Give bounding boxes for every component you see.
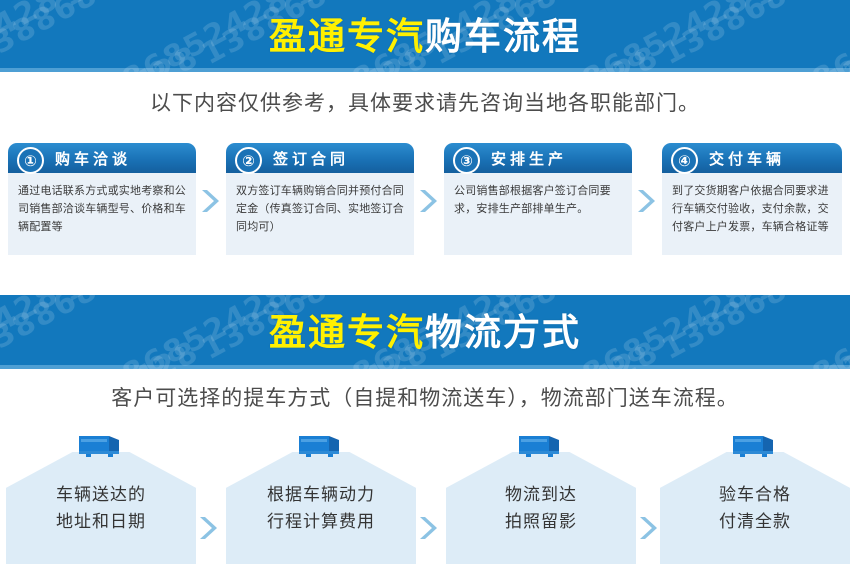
logistics-subtitle: 客户可选择的提车方式（自提和物流送车），物流部门送车流程。 — [0, 382, 850, 412]
banner-heading-logistics: 物流方式 — [425, 312, 581, 353]
logistics-card-1-line1: 车辆送达的 — [6, 482, 196, 509]
step-card-1[interactable]: ① 购车洽谈 通过电话联系方式或实地考察和公司销售部洽谈车辆型号、价格和车辆配置… — [8, 143, 196, 255]
step-card-3-number: ③ — [453, 147, 480, 174]
logistics-cards-row: 车辆送达的 地址和日期 根据车辆 — [0, 430, 850, 564]
logistics-card-2-text: 根据车辆动力 行程计算费用 — [226, 482, 416, 536]
logistics-card-3[interactable]: 物流到达 拍照留影 — [446, 430, 636, 564]
step-card-2-title: 签订合同 — [273, 148, 349, 169]
logistics-arrow-3-icon — [636, 515, 658, 541]
step-card-3-body: 公司销售部根据客户签订合同要求，安排生产部排单生产。 — [444, 173, 632, 255]
step-card-4-number: ④ — [671, 147, 698, 174]
banner-title-purchase: 盈通专汽购车流程 — [269, 18, 581, 55]
step-card-4-body: 到了交货期客户依据合同要求进行车辆交付验收，支付余款，交付客户上户发票，车辆合格… — [662, 173, 842, 255]
logistics-arrow-1-icon — [196, 515, 218, 541]
logistics-card-3-line1: 物流到达 — [446, 482, 636, 509]
logistics-card-4-line2: 付清全款 — [660, 509, 850, 536]
logistics-card-1[interactable]: 车辆送达的 地址和日期 — [6, 430, 196, 564]
step-card-3-title: 安排生产 — [491, 148, 567, 169]
step-card-2-body: 双方签订车辆购销合同并预付合同定金（传真签订合同、实地签订合同均可） — [226, 173, 414, 255]
step-card-2-header: ② 签订合同 — [226, 143, 414, 173]
logistics-card-3-line2: 拍照留影 — [446, 509, 636, 536]
purchase-process-banner: 1388685242813886852428138868524281388685… — [0, 0, 850, 72]
step-card-1-body: 通过电话联系方式或实地考察和公司销售部洽谈车辆型号、价格和车辆配置等 — [8, 173, 196, 255]
logistics-card-1-text: 车辆送达的 地址和日期 — [6, 482, 196, 536]
infographic-page: 1388685242813886852428138868524281388685… — [0, 0, 850, 564]
logistics-banner: 1388685242813886852428138868524281388685… — [0, 295, 850, 369]
logistics-card-1-line2: 地址和日期 — [6, 509, 196, 536]
logistics-card-4-text: 验车合格 付清全款 — [660, 482, 850, 536]
logistics-card-4-line1: 验车合格 — [660, 482, 850, 509]
banner-heading-purchase: 购车流程 — [425, 16, 581, 57]
step-arrow-3-icon — [634, 188, 656, 214]
step-card-1-title: 购车洽谈 — [55, 148, 131, 169]
logistics-card-4[interactable]: 验车合格 付清全款 — [660, 430, 850, 564]
logistics-card-2[interactable]: 根据车辆动力 行程计算费用 — [226, 430, 416, 564]
purchase-subtitle: 以下内容仅供参考，具体要求请先咨询当地各职能部门。 — [0, 87, 850, 117]
step-card-4-header: ④ 交付车辆 — [662, 143, 842, 173]
purchase-steps-row: ① 购车洽谈 通过电话联系方式或实地考察和公司销售部洽谈车辆型号、价格和车辆配置… — [0, 143, 850, 258]
step-card-3-header: ③ 安排生产 — [444, 143, 632, 173]
step-card-4[interactable]: ④ 交付车辆 到了交货期客户依据合同要求进行车辆交付验收，支付余款，交付客户上户… — [662, 143, 842, 255]
banner-underline-2 — [0, 365, 850, 369]
banner-brand-logistics: 盈通专汽 — [269, 312, 425, 353]
logistics-arrow-2-icon — [416, 515, 438, 541]
truck-icon — [295, 432, 347, 462]
step-card-4-title: 交付车辆 — [709, 148, 785, 169]
step-card-1-header: ① 购车洽谈 — [8, 143, 196, 173]
logistics-card-2-line2: 行程计算费用 — [226, 509, 416, 536]
truck-icon — [729, 432, 781, 462]
banner-underline-1 — [0, 68, 850, 72]
logistics-card-3-text: 物流到达 拍照留影 — [446, 482, 636, 536]
step-card-3[interactable]: ③ 安排生产 公司销售部根据客户签订合同要求，安排生产部排单生产。 — [444, 143, 632, 255]
step-card-2[interactable]: ② 签订合同 双方签订车辆购销合同并预付合同定金（传真签订合同、实地签订合同均可… — [226, 143, 414, 255]
truck-icon — [75, 432, 127, 462]
banner-brand-purchase: 盈通专汽 — [269, 16, 425, 57]
logistics-card-2-line1: 根据车辆动力 — [226, 482, 416, 509]
truck-icon — [515, 432, 567, 462]
step-card-2-number: ② — [235, 147, 262, 174]
step-card-1-number: ① — [17, 147, 44, 174]
banner-title-logistics: 盈通专汽物流方式 — [269, 314, 581, 351]
step-arrow-2-icon — [416, 188, 438, 214]
step-arrow-1-icon — [198, 188, 220, 214]
